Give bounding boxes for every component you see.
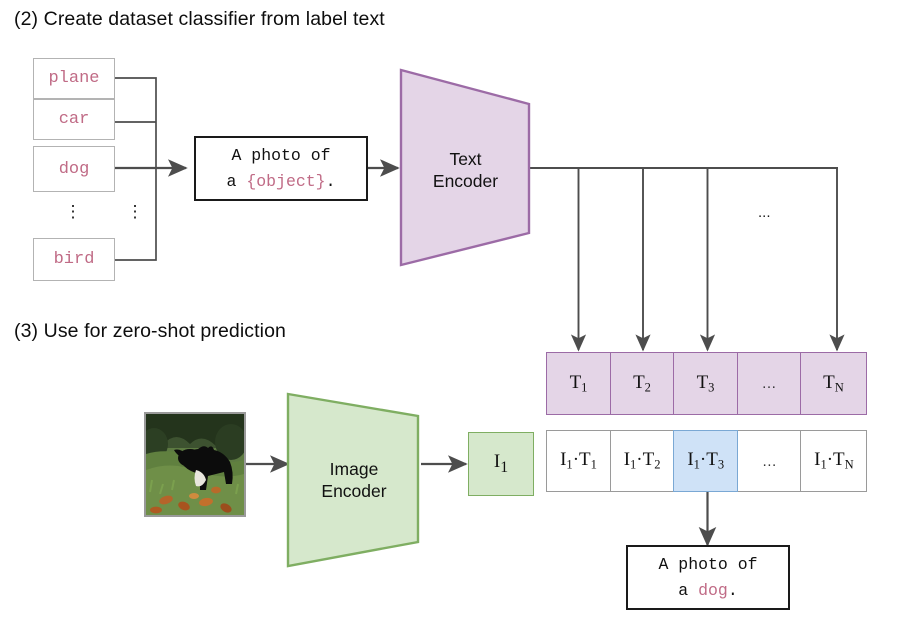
cell-label: I1: [494, 451, 508, 477]
label-box-car[interactable]: car: [33, 99, 115, 140]
prediction-box[interactable]: A photo of a dog.: [626, 545, 790, 610]
cell-label: TN: [823, 372, 844, 395]
text-embeddings-row: T1 T2 T3 … TN: [546, 352, 867, 415]
label-text: bird: [54, 250, 95, 269]
prediction-line-2: a dog.: [678, 578, 737, 604]
prompt-prefix: a: [227, 172, 247, 191]
text-embedding-cell[interactable]: TN: [800, 352, 867, 415]
connector-ellipsis: ⋮: [125, 203, 145, 220]
image-embedding-cell[interactable]: I1: [468, 432, 534, 496]
dog-photo-graphic: [146, 414, 244, 515]
cell-label: I1·T2: [624, 449, 661, 472]
cell-label: I1·T1: [560, 449, 597, 472]
text-embedding-ellipsis-cell: …: [737, 352, 802, 415]
prediction-prefix: a: [678, 581, 698, 600]
prompt-object-token: {object}: [246, 172, 325, 191]
label-list-ellipsis: ⋮: [63, 203, 83, 220]
label-box-bird[interactable]: bird: [33, 238, 115, 281]
similarity-cell-selected[interactable]: I1·T3: [673, 430, 738, 492]
prompt-suffix: .: [326, 172, 336, 191]
text-encoder-line-2: Encoder: [433, 171, 498, 191]
similarity-ellipsis-cell: …: [737, 430, 802, 492]
text-encoder-line-1: Text: [449, 149, 481, 169]
similarity-cell[interactable]: I1·T2: [610, 430, 675, 492]
prediction-line-1: A photo of: [658, 552, 757, 578]
cell-label: I1·T3: [687, 449, 724, 472]
prediction-suffix: .: [728, 581, 738, 600]
prompt-line-2: a {object}.: [227, 169, 336, 195]
bus-ellipsis: ...: [758, 204, 771, 221]
prompt-line-1: A photo of: [231, 143, 330, 169]
image-encoder-line-2: Encoder: [321, 481, 386, 501]
cell-label: T1: [570, 372, 588, 395]
image-encoder-block[interactable]: Image Encoder: [284, 392, 424, 568]
text-embedding-cell[interactable]: T1: [546, 352, 611, 415]
prompt-template-box[interactable]: A photo of a {object}.: [194, 136, 368, 201]
section-2-heading: (2) Create dataset classifier from label…: [14, 8, 385, 31]
cell-label: …: [762, 375, 777, 392]
image-encoder-label: Image Encoder: [284, 458, 424, 503]
similarity-cell[interactable]: I1·T1: [546, 430, 611, 492]
cell-label: …: [762, 453, 777, 470]
input-photo[interactable]: [144, 412, 246, 517]
label-text: car: [59, 110, 90, 129]
cell-label: I1·TN: [814, 449, 854, 472]
text-embedding-cell[interactable]: T2: [610, 352, 675, 415]
similarity-row: I1·T1 I1·T2 I1·T3 … I1·TN: [546, 430, 867, 492]
label-box-plane[interactable]: plane: [33, 58, 115, 99]
similarity-cell[interactable]: I1·TN: [800, 430, 867, 492]
section-3-heading: (3) Use for zero-shot prediction: [14, 320, 286, 343]
text-encoder-label: Text Encoder: [398, 148, 533, 193]
text-encoder-block[interactable]: Text Encoder: [398, 66, 533, 268]
label-text: dog: [59, 160, 90, 179]
cell-label: T2: [633, 372, 651, 395]
image-encoder-line-1: Image: [330, 459, 379, 479]
label-text: plane: [48, 69, 99, 88]
cell-label: T3: [697, 372, 715, 395]
label-box-dog[interactable]: dog: [33, 146, 115, 192]
prediction-class-token: dog: [698, 581, 728, 600]
text-embedding-cell[interactable]: T3: [673, 352, 738, 415]
